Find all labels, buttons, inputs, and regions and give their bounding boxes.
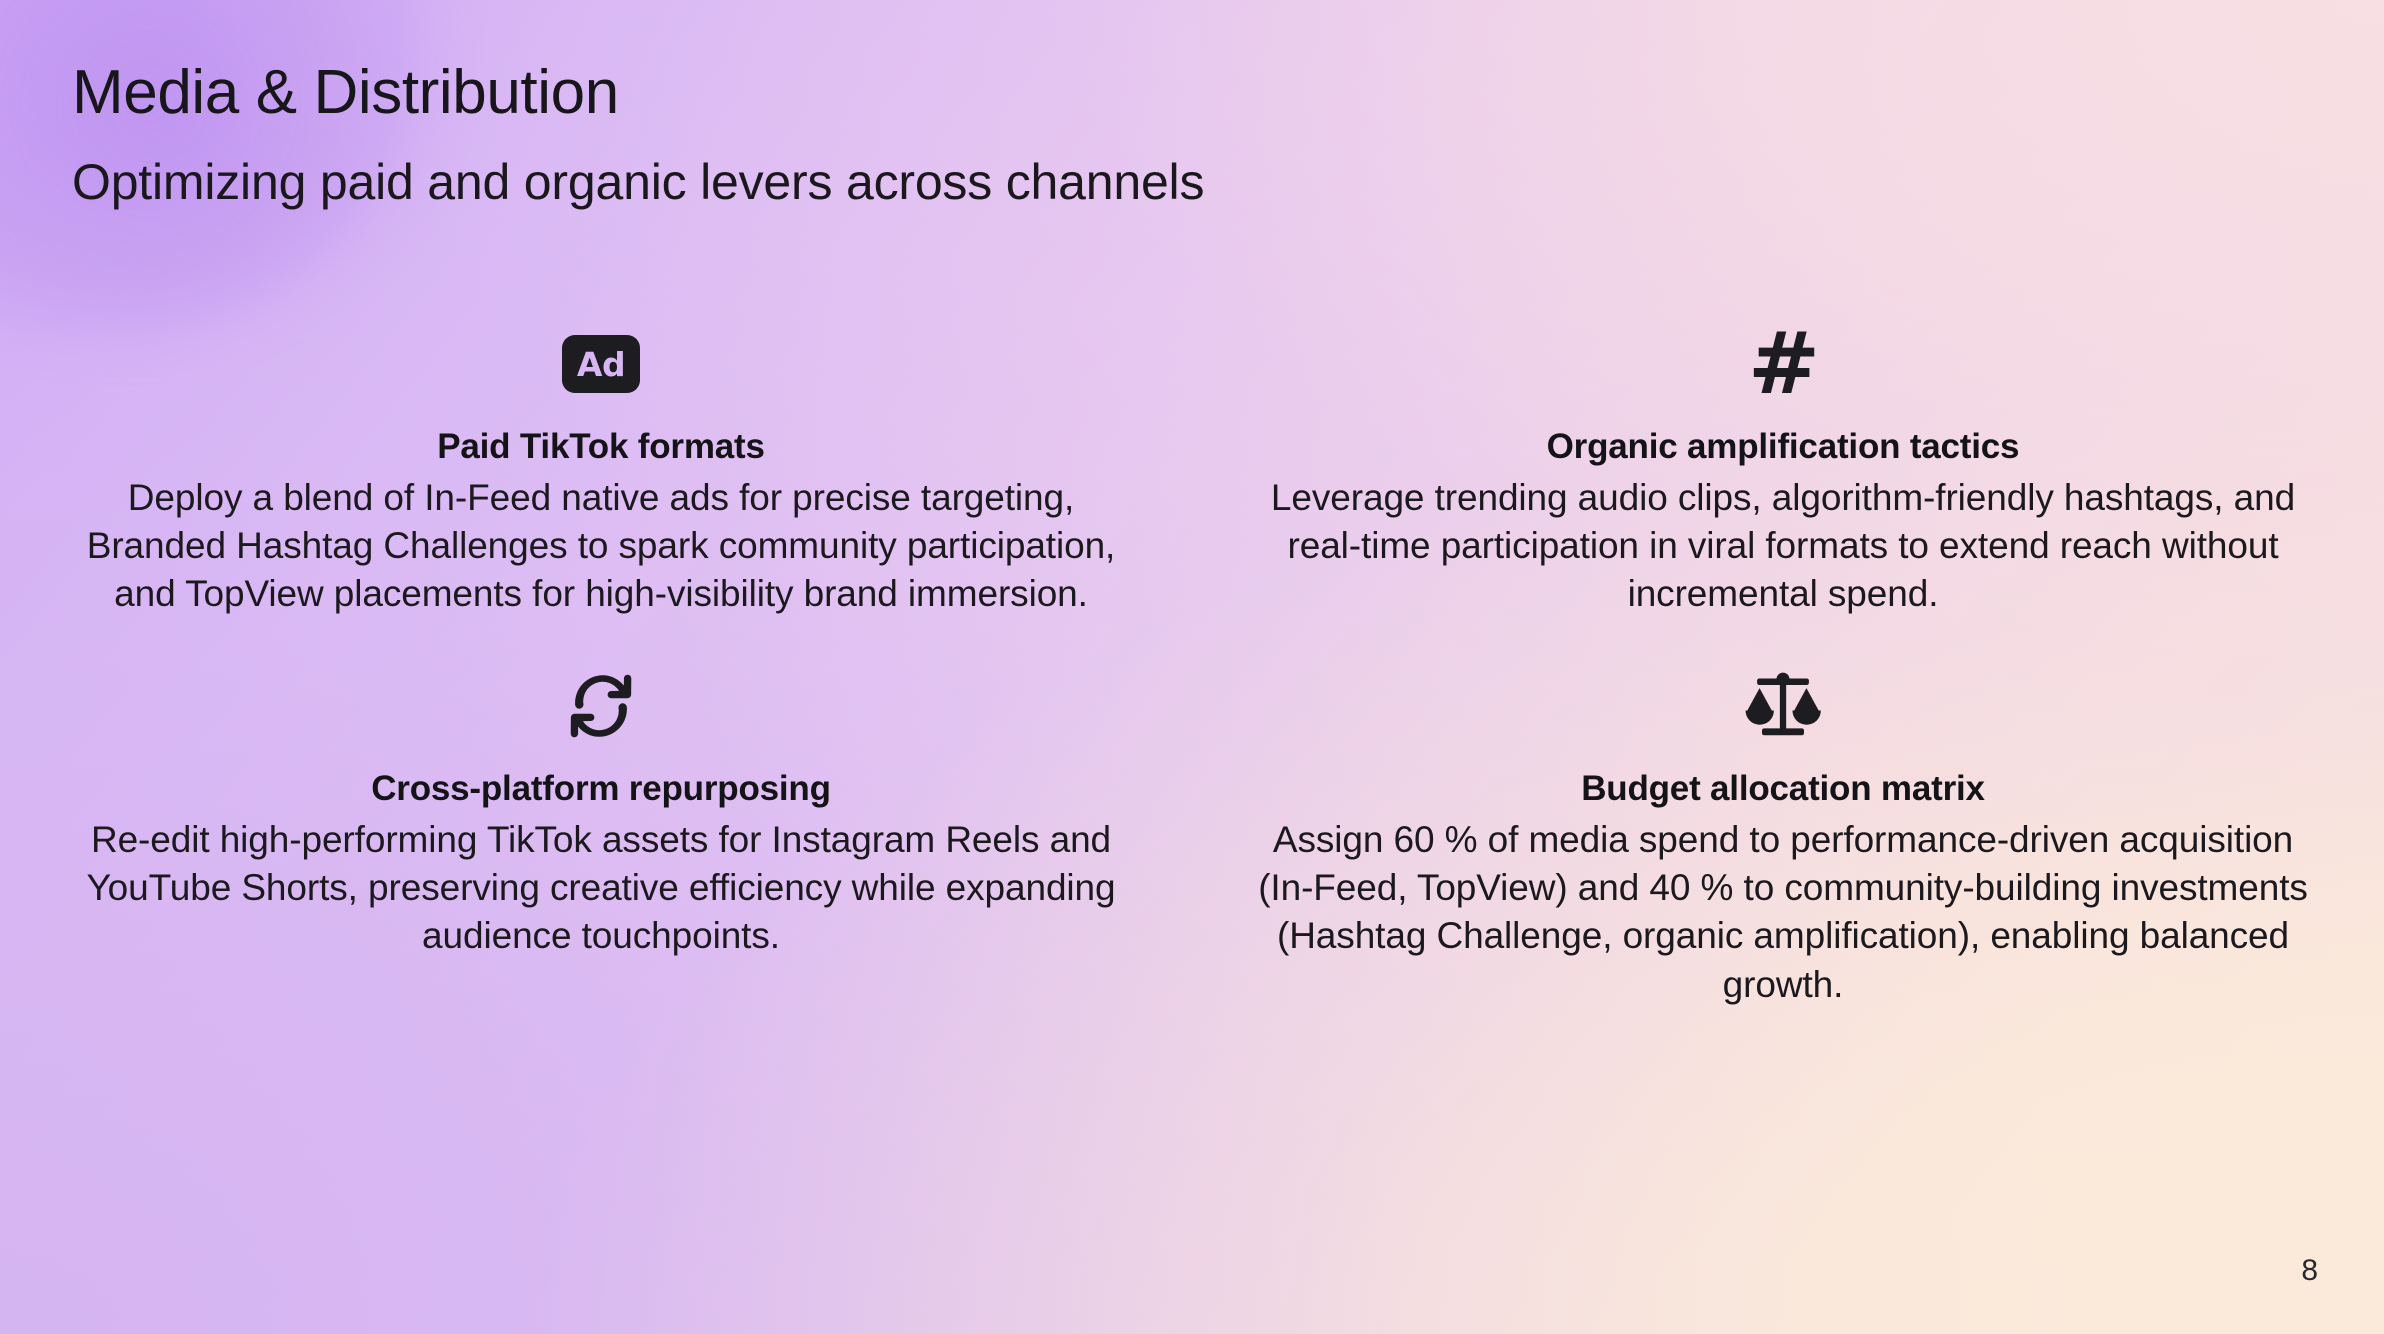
card-title: Paid TikTok formats xyxy=(437,426,765,468)
card-icon-slot xyxy=(559,660,643,752)
card-body: Re-edit high-performing TikTok assets fo… xyxy=(74,816,1128,960)
card-title: Organic amplification tactics xyxy=(1547,426,2020,468)
ad-badge-icon: Ad xyxy=(562,335,640,393)
card-paid-tiktok-formats: Ad Paid TikTok formats Deploy a blend of… xyxy=(60,318,1142,618)
ad-badge-label: Ad xyxy=(577,348,625,381)
card-title: Budget allocation matrix xyxy=(1581,768,1985,810)
card-icon-slot: Ad xyxy=(562,318,640,410)
card-title: Cross-platform repurposing xyxy=(371,768,831,810)
refresh-cycle-icon xyxy=(559,664,643,748)
balance-scales-icon xyxy=(1741,664,1825,748)
card-icon-slot xyxy=(1741,660,1825,752)
card-body: Assign 60 % of media spend to performanc… xyxy=(1256,816,2310,1008)
content-card-grid: Ad Paid TikTok formats Deploy a blend of… xyxy=(60,318,2324,1009)
card-cross-platform-repurposing: Cross-platform repurposing Re-edit high-… xyxy=(60,660,1142,1008)
card-budget-allocation-matrix: Budget allocation matrix Assign 60 % of … xyxy=(1242,660,2324,1008)
hashtag-icon: # xyxy=(1748,321,1818,407)
slide-header: Media & Distribution Optimizing paid and… xyxy=(72,58,2172,211)
page-number: 8 xyxy=(2301,1256,2318,1286)
page-subtitle: Optimizing paid and organic levers acros… xyxy=(72,153,2172,211)
card-body: Leverage trending audio clips, algorithm… xyxy=(1256,474,2310,618)
card-organic-amplification-tactics: # Organic amplification tactics Leverage… xyxy=(1242,318,2324,618)
card-body: Deploy a blend of In-Feed native ads for… xyxy=(74,474,1128,618)
slide-canvas: Media & Distribution Optimizing paid and… xyxy=(0,0,2384,1334)
page-title: Media & Distribution xyxy=(72,58,2172,127)
card-icon-slot: # xyxy=(1748,318,1818,410)
